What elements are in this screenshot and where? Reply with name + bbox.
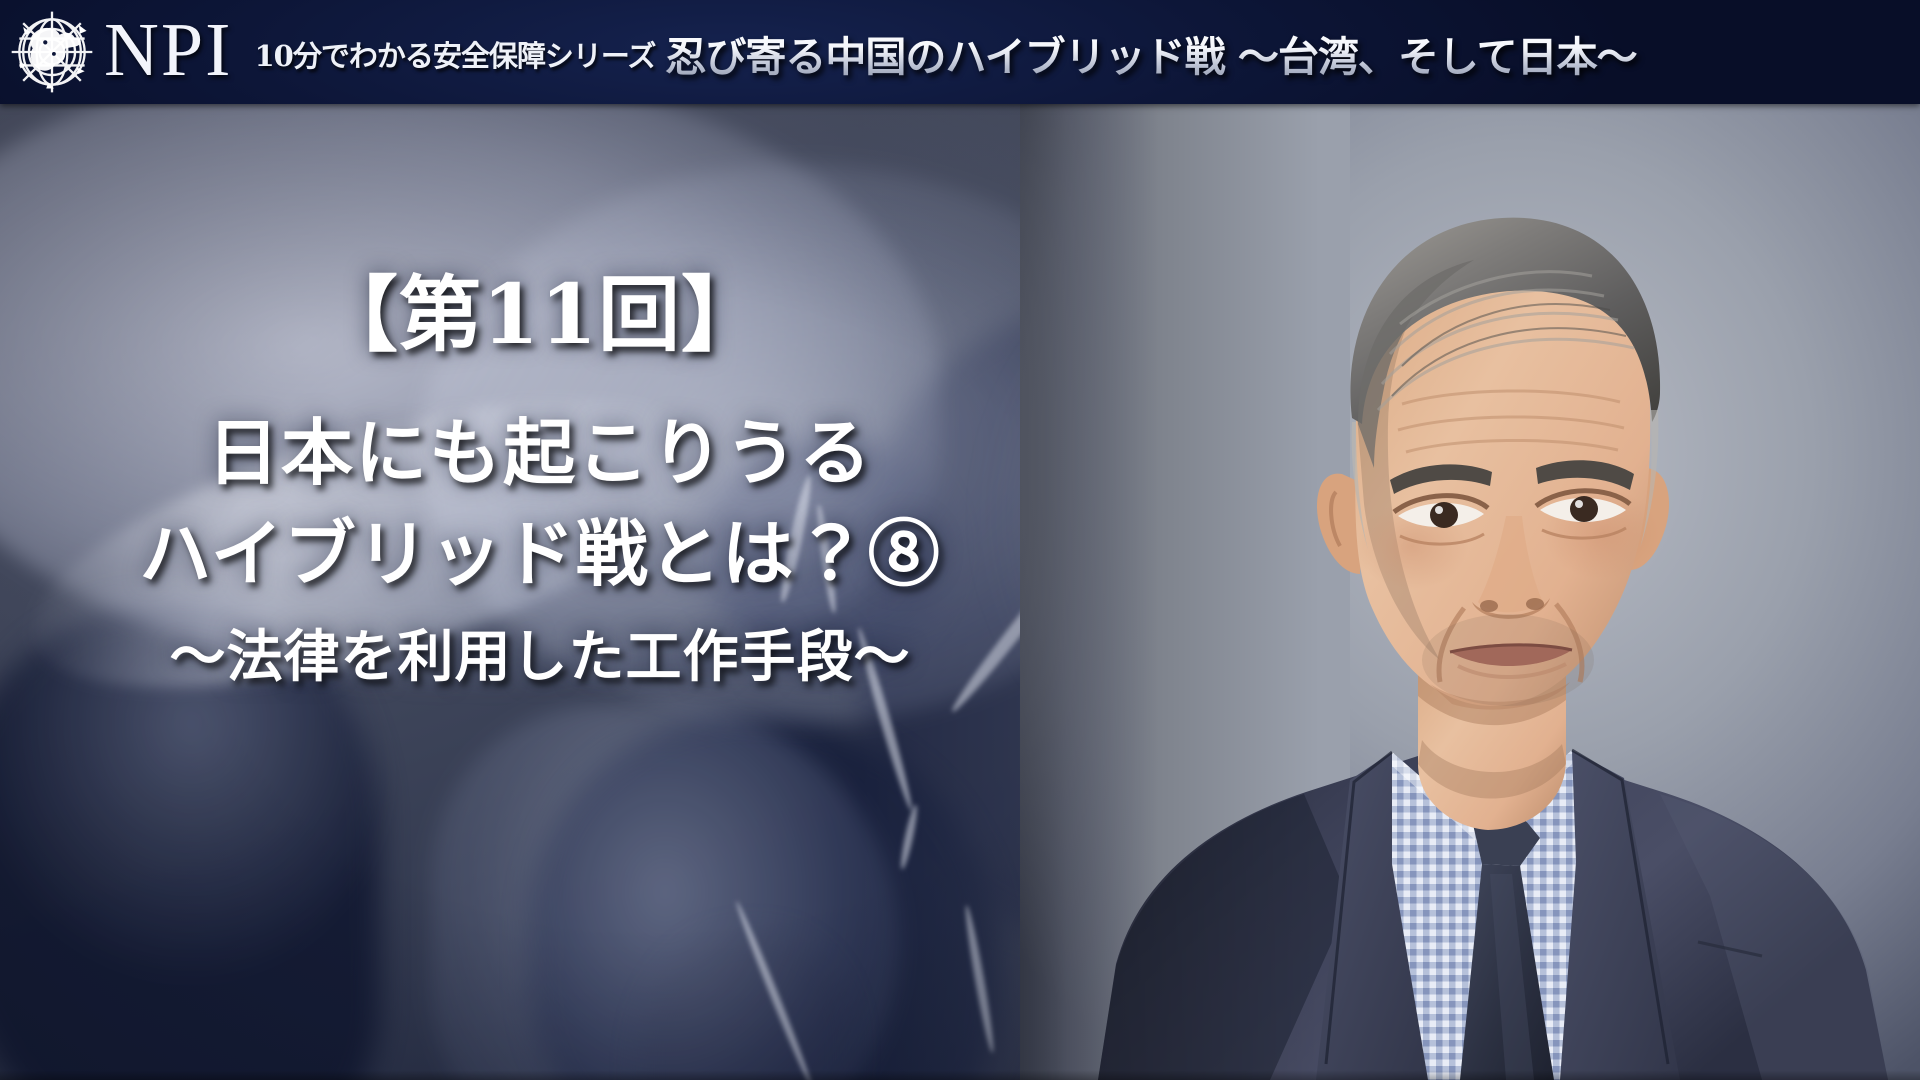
bottom-edge	[0, 1070, 1920, 1080]
speaker-portrait	[1020, 104, 1920, 1080]
brand-name: NPI	[104, 12, 232, 88]
portrait-illustration	[1020, 104, 1920, 1080]
series-title: 忍び寄る中国のハイブリッド戦 〜台湾、そして日本〜	[665, 23, 1636, 83]
series-label: 10分でわかる安全保障シリーズ	[254, 33, 655, 75]
header-bar: NPI 10分でわかる安全保障シリーズ 忍び寄る中国のハイブリッド戦 〜台湾、そ…	[0, 0, 1920, 104]
globe-grid-icon	[4, 4, 100, 100]
thumbnail-stage: 【第11回】 日本にも起こりうる ハイブリッド戦とは？⑧ 〜法律を利用した工作手…	[0, 0, 1920, 1080]
